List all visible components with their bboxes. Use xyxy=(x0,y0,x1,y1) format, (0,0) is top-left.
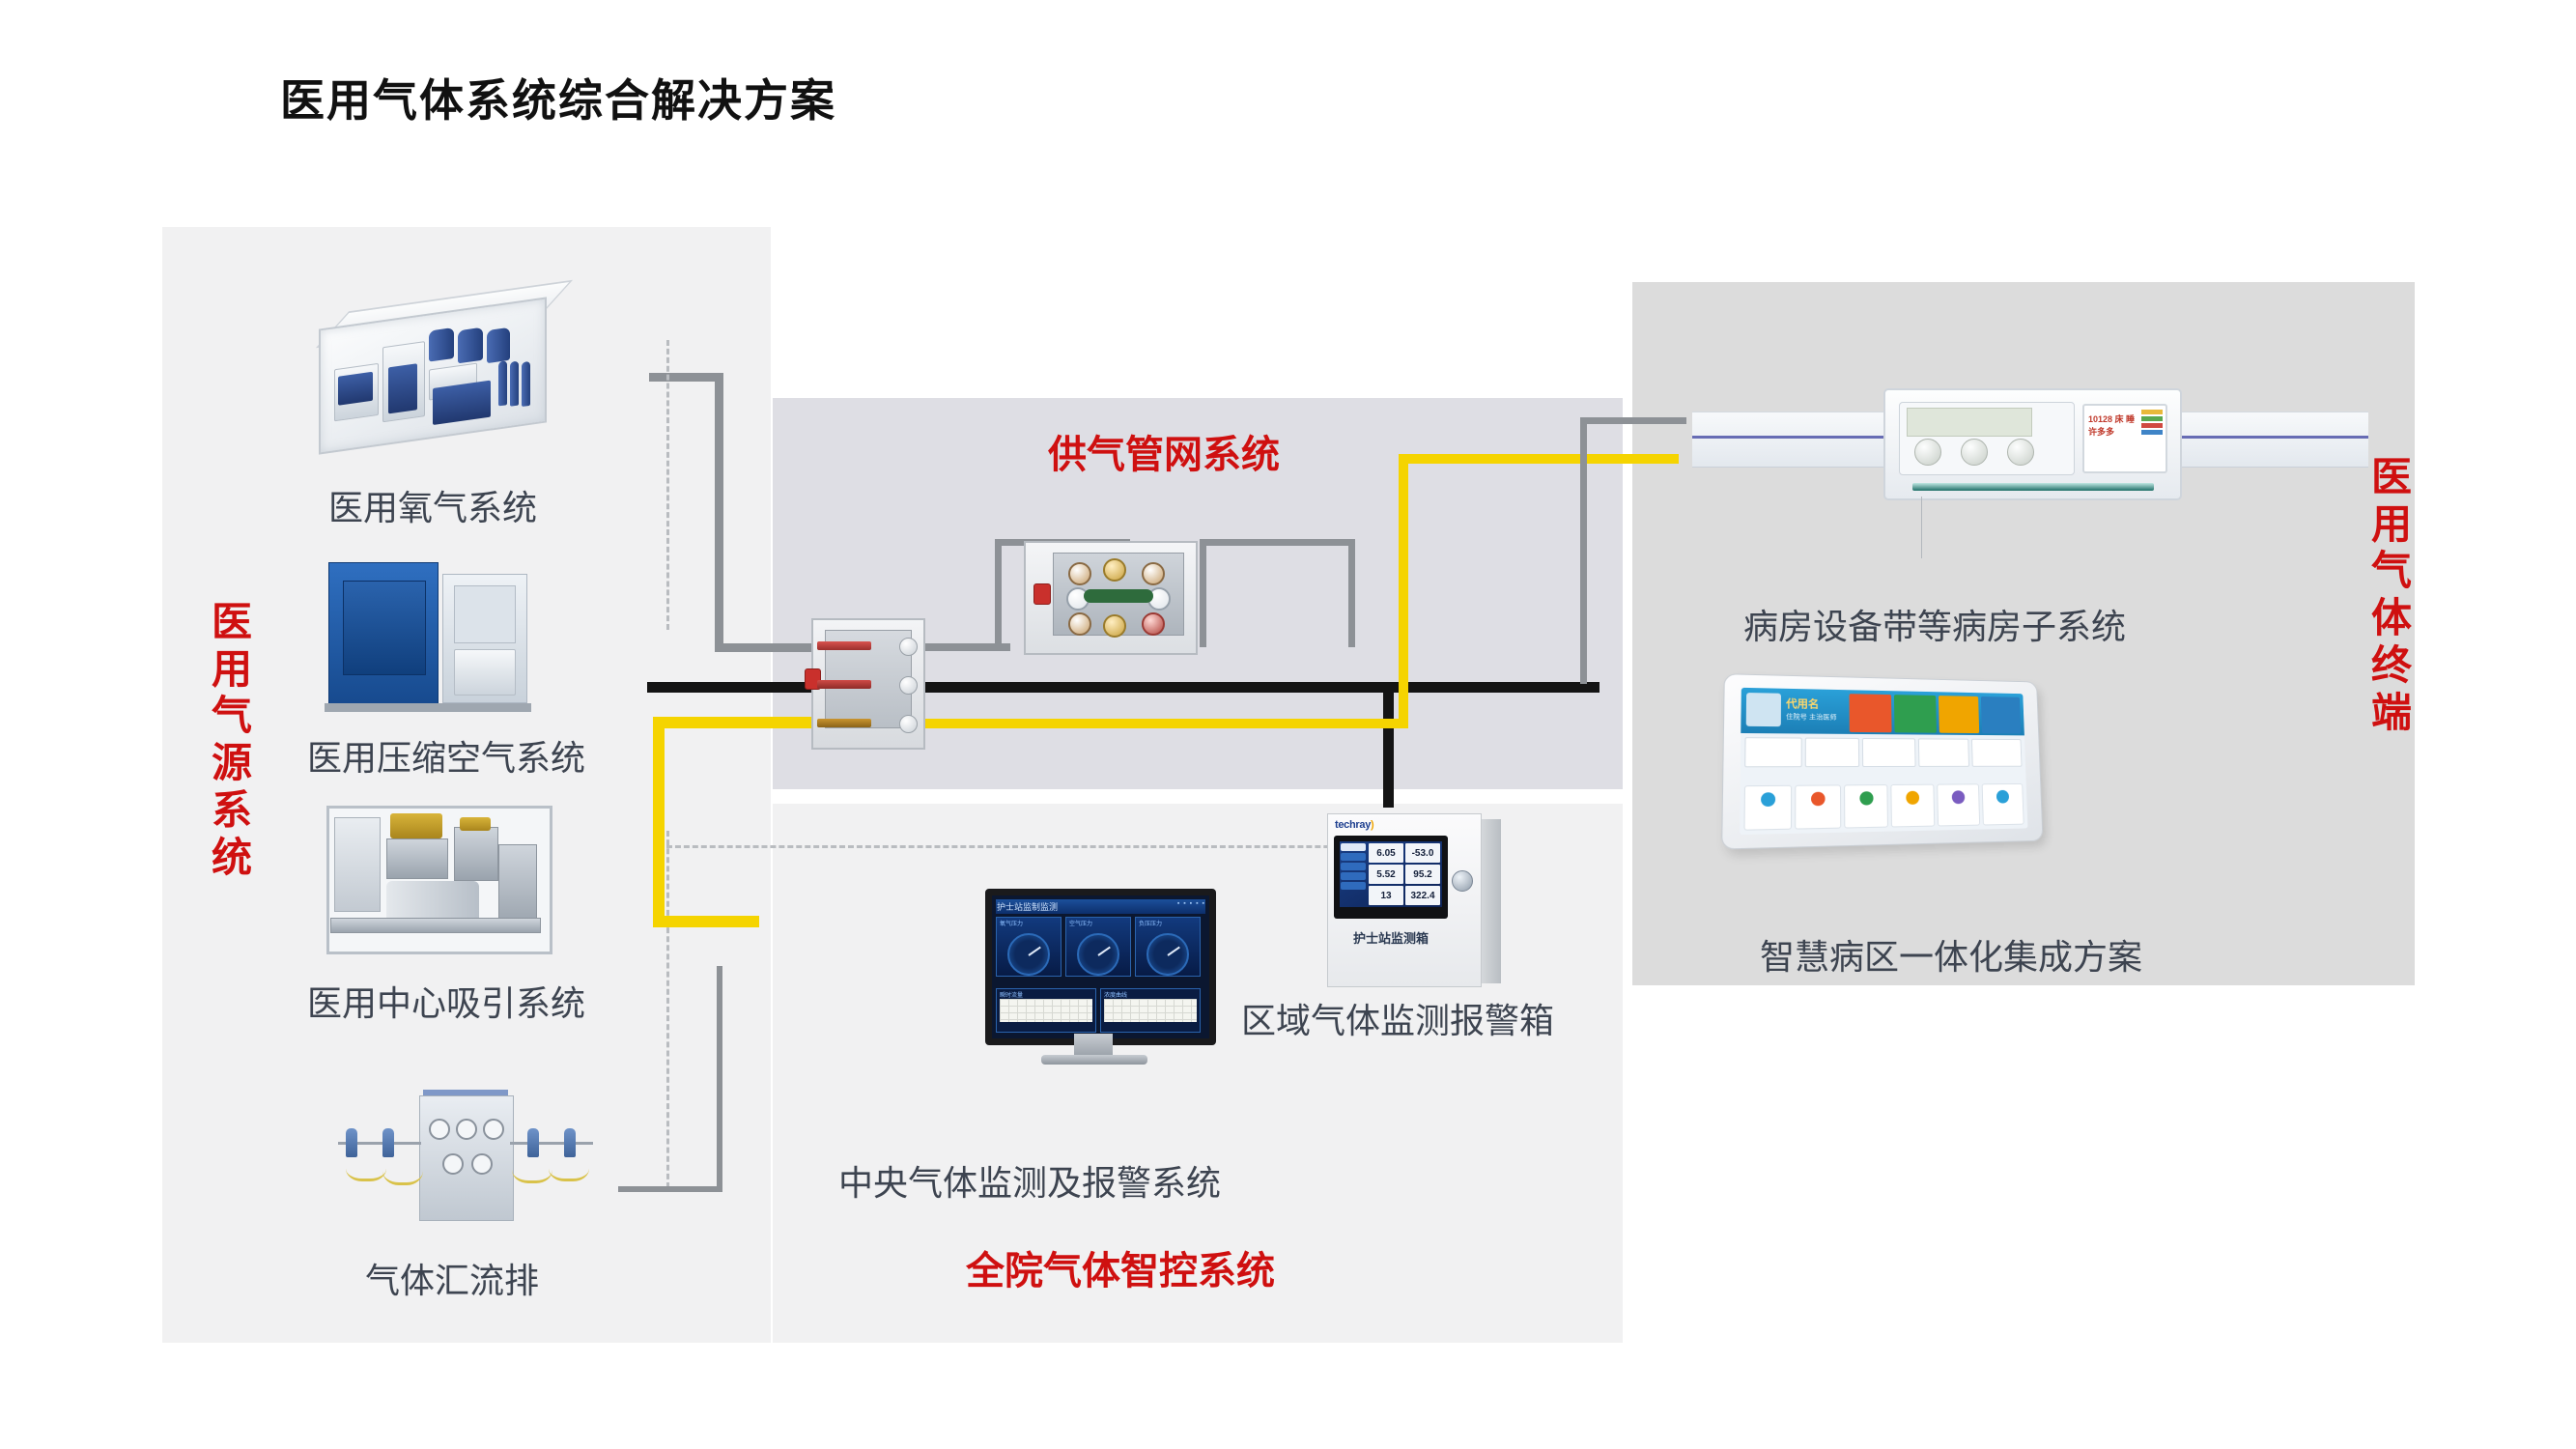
pipe-gray-loop-right xyxy=(1200,539,1206,647)
alarm-reading: 95.2 xyxy=(1405,865,1440,884)
pipe-air-main xyxy=(923,719,1406,728)
vchar: 医 xyxy=(205,599,259,646)
gauge-label: 空气压力 xyxy=(1069,919,1092,927)
alarm-reading: 13 xyxy=(1369,886,1403,905)
diagram-canvas: 医用气体系统综合解决方案 医 用 气 源 系 统 xyxy=(0,0,2576,1449)
pipe-gray-loop-right-drop xyxy=(1348,539,1355,647)
gas-manifold-image xyxy=(328,1082,599,1236)
monitor-screen-title: 护士站监制监测 xyxy=(997,900,1058,913)
vchar: 气 xyxy=(2364,548,2419,595)
alarm-box-caption: 护士站监测箱 xyxy=(1338,928,1444,947)
pipe-vacuum-trunk xyxy=(647,682,831,693)
pipe-manifold-foot xyxy=(618,1186,722,1192)
tablet-subtitle: 住院号 主治医师 xyxy=(1786,712,1836,723)
caption-smart-ward: 智慧病区一体化集成方案 xyxy=(1760,929,2142,980)
area-gas-alarm-box-image: techray) 6.05 -53.0 5.52 95.2 13 322.4 xyxy=(1327,813,1503,985)
pipe-air-riser-right xyxy=(1399,454,1408,728)
caption-vacuum-system: 医用中心吸引系统 xyxy=(307,976,585,1026)
alarm-reading: 322.4 xyxy=(1405,886,1440,905)
tablet-patient-name: 代用名 xyxy=(1786,696,1819,712)
pipe-air-to-terminal xyxy=(1399,454,1679,464)
page-title: 医用气体系统综合解决方案 xyxy=(280,66,836,129)
vchar: 医 xyxy=(2364,454,2419,501)
label-gas-terminal-vertical: 医 用 气 体 终 端 xyxy=(2364,454,2419,736)
pipe-vacuum-drop xyxy=(1383,682,1394,808)
caption-air-system: 医用压缩空气系统 xyxy=(307,730,585,781)
guide-dash-source-lower xyxy=(666,831,669,1188)
pipe-manifold-riser xyxy=(717,966,722,1190)
caption-gas-manifold: 气体汇流排 xyxy=(365,1253,539,1303)
zone-valve-box-vertical-image xyxy=(811,618,925,750)
pipe-air-riser xyxy=(653,717,665,924)
alarm-reading: -53.0 xyxy=(1405,843,1440,863)
guide-dash-to-control xyxy=(666,845,1381,848)
vchar: 用 xyxy=(2364,501,2419,549)
guide-dash-source-upper xyxy=(666,340,669,630)
pipe-oxygen-riser xyxy=(715,379,723,652)
vchar: 气 xyxy=(205,693,259,740)
gauge-label: 氧气压力 xyxy=(1000,919,1023,927)
alarm-reading: 6.05 xyxy=(1369,843,1403,863)
alarm-box-knob xyxy=(1452,870,1473,892)
smart-ward-tablet-image: 代用名 住院号 主治医师 xyxy=(1729,676,2077,860)
caption-oxygen-system: 医用氧气系统 xyxy=(328,480,537,530)
heading-smart-control: 全院气体智控系统 xyxy=(966,1239,1275,1295)
alarm-reading: 5.52 xyxy=(1369,865,1403,884)
alarm-box-brand: techray) xyxy=(1335,819,1373,831)
vchar: 端 xyxy=(2364,690,2419,737)
pipe-gray-loop-left xyxy=(995,539,1002,647)
pipe-oxygen-branch-top xyxy=(649,373,723,382)
heading-pipe-network: 供气管网系统 xyxy=(1048,423,1280,479)
gauge-label: 负压压力 xyxy=(1139,919,1162,927)
vchar: 体 xyxy=(2364,595,2419,642)
pipe-vacuum-main xyxy=(923,682,1599,693)
vchar: 终 xyxy=(2364,642,2419,690)
pipe-gray-loop-right-top xyxy=(1200,539,1354,546)
air-compressor-image xyxy=(319,541,560,715)
chart-label: 瞬时流量 xyxy=(1000,990,1023,999)
vacuum-pump-image xyxy=(319,792,560,961)
bed-head-drop-line xyxy=(1921,497,1922,558)
caption-bedhead-system: 病房设备带等病房子系统 xyxy=(1743,599,2126,649)
bed-head-unit-image: 10128 床 睡 许多多 xyxy=(1692,384,2368,500)
pipe-gray-valve-out xyxy=(923,643,1010,651)
pipe-air-foot xyxy=(653,916,759,927)
vchar: 统 xyxy=(205,835,259,882)
central-monitor-image: 护士站监制监测 ▪ ▪ ▪ ▪ ▪ 氧气压力 空气压力 负压压力 瞬时流量 浓度… xyxy=(985,889,1203,1082)
pipe-gray-terminal-riser xyxy=(1580,417,1587,684)
pipe-air-to-box xyxy=(653,717,831,728)
oxygen-plant-container-image xyxy=(311,290,562,464)
vchar: 源 xyxy=(205,740,259,787)
pipe-gray-terminal-upper xyxy=(1580,417,1686,424)
caption-area-alarm-box: 区域气体监测报警箱 xyxy=(1241,993,1554,1043)
label-gas-source-vertical: 医 用 气 源 系 统 xyxy=(205,599,259,881)
zone-valve-box-horizontal-image xyxy=(1024,541,1198,655)
caption-central-monitor: 中央气体监测及报警系统 xyxy=(838,1155,1221,1206)
monitor-screen-tabs: ▪ ▪ ▪ ▪ ▪ xyxy=(1177,900,1205,907)
vchar: 系 xyxy=(205,787,259,835)
chart-label: 浓度曲线 xyxy=(1104,990,1127,999)
vchar: 用 xyxy=(205,646,259,694)
bed-head-display: 10128 床 睡 许多多 xyxy=(2082,404,2167,473)
